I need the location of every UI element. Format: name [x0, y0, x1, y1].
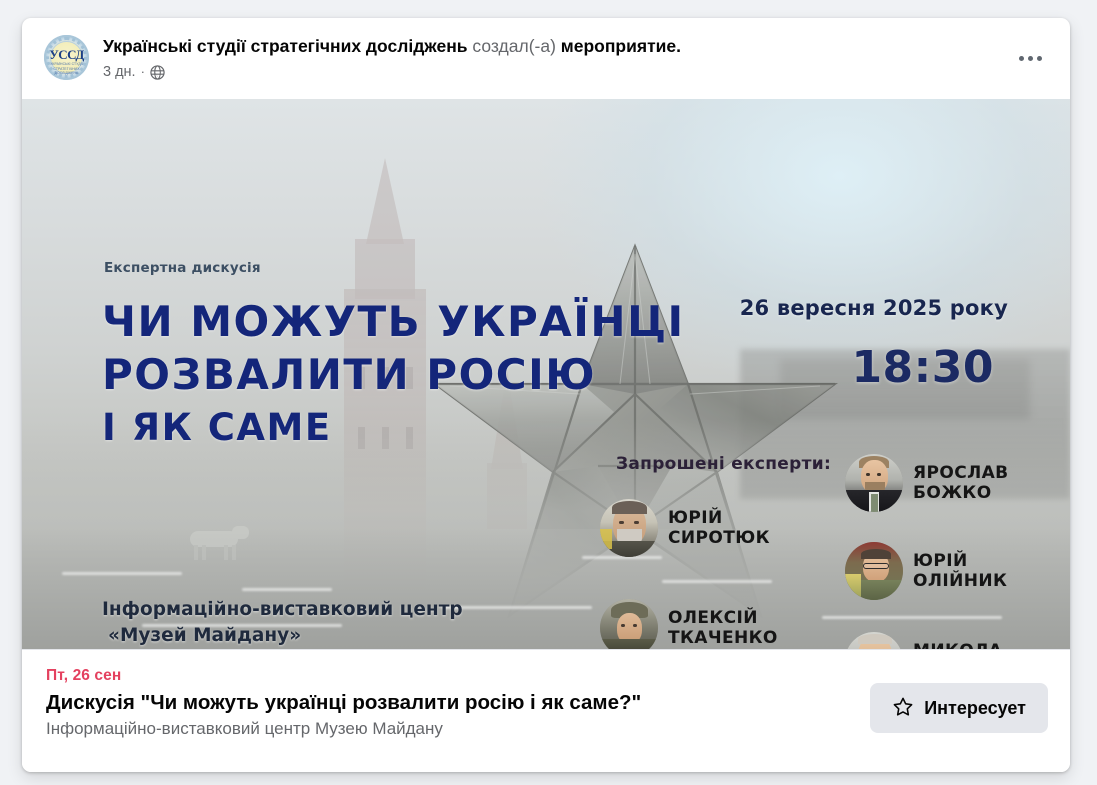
expert-photo-yuriy-oliynyk — [845, 542, 903, 600]
poster-kicker: Експертна дискусія — [104, 260, 261, 276]
post-meta-line: 3 дн. · — [103, 63, 1052, 81]
post-header-text: Українські студії стратегічних досліджен… — [103, 32, 1052, 81]
poster-venue: Інформаційно-виставковий центр «Музей Ма… — [102, 597, 473, 649]
expert-name: Микола Волгов — [913, 641, 1002, 649]
expert-entry: Ярослав Божко — [845, 454, 1009, 512]
stray-dog — [182, 523, 250, 561]
dog-leg — [194, 545, 198, 560]
interested-button[interactable]: Интересует — [870, 683, 1048, 733]
expert-last-name: Олійник — [913, 571, 1007, 591]
expert-last-name: Сиротюк — [668, 528, 770, 548]
dog-leg — [202, 545, 206, 560]
expert-photo-oleksiy-tkachenko — [600, 599, 658, 649]
post-action-text: создал(-а) — [472, 36, 556, 56]
expert-first-name: Юрій — [913, 551, 1007, 571]
poster-headline-line3: і як саме — [102, 401, 662, 454]
avatar-monogram: УССД — [44, 48, 89, 61]
star-outline-icon — [892, 696, 914, 721]
facebook-post-card: УССД УКРАЇНСЬКІ СТУДІЇ СТРАТЕГІЧНИХ ДОСЛ… — [22, 18, 1070, 772]
poster-venue-line2: «Музей Майдану» — [102, 623, 473, 649]
expert-entry: Микола Волгов — [845, 632, 1002, 649]
expert-name: Юрій Олійник — [913, 551, 1007, 591]
post-header: УССД УКРАЇНСЬКІ СТУДІЇ СТРАТЕГІЧНИХ ДОСЛ… — [22, 18, 1070, 99]
dog-leg — [232, 545, 236, 560]
expert-first-name: Олексій — [668, 608, 778, 628]
dog-leg — [224, 545, 228, 560]
ice-streak — [822, 616, 1002, 619]
ice-streak — [242, 588, 332, 591]
event-info-footer: Пт, 26 сен Дискусія "Чи можуть українці … — [22, 649, 1070, 772]
avatar-ring-text: УКРАЇНСЬКІ СТУДІЇ СТРАТЕГІЧНИХ ДОСЛІДЖЕН… — [44, 62, 89, 76]
poster-headline-line1: Чи можуть українці — [102, 295, 662, 348]
poster-venue-line1: Інформаційно-виставковий центр — [102, 597, 473, 623]
avatar[interactable]: УССД УКРАЇНСЬКІ СТУДІЇ СТРАТЕГІЧНИХ ДОСЛ… — [44, 35, 89, 80]
poster-event-time: 18:30 — [851, 342, 994, 393]
expert-photo-mykola-volhov — [845, 632, 903, 649]
ellipsis-dot — [1037, 56, 1042, 61]
tower-midsection — [355, 239, 415, 299]
expert-name: Ярослав Божко — [913, 463, 1009, 503]
expert-photo-yuriy-syrotiuk — [600, 499, 658, 557]
tower-spire — [366, 158, 404, 244]
ice-streak — [62, 572, 182, 575]
ellipsis-dot — [1019, 56, 1024, 61]
expert-photo-yaroslav-bozhko — [845, 454, 903, 512]
post-action-object: мероприятие. — [561, 36, 681, 56]
ellipsis-horizontal-icon[interactable] — [1012, 40, 1048, 76]
post-title-line: Українські студії стратегічних досліджен… — [103, 35, 1052, 57]
meta-separator: · — [141, 63, 145, 81]
ellipsis-dot — [1028, 56, 1033, 61]
poster-headline-line2: розвалити росію — [102, 348, 662, 401]
ice-streak — [662, 580, 772, 583]
expert-first-name: Юрій — [668, 508, 770, 528]
post-timestamp[interactable]: 3 дн. — [103, 63, 136, 81]
expert-name: Олексій Ткаченко — [668, 608, 778, 648]
expert-first-name: Микола — [913, 641, 1002, 649]
poster-headline: Чи можуть українці розвалити росію і як … — [102, 295, 662, 454]
globe-public-icon[interactable] — [150, 65, 165, 80]
poster-experts-label: Запрошені експерти: — [616, 454, 831, 474]
expert-name: Юрій Сиротюк — [668, 508, 770, 548]
expert-entry: Юрій Сиротюк — [600, 499, 770, 557]
page-name-link[interactable]: Українські студії стратегічних досліджен… — [103, 36, 468, 56]
dog-head — [232, 526, 249, 539]
interested-button-label: Интересует — [924, 698, 1026, 719]
expert-last-name: Ткаченко — [668, 628, 778, 648]
event-poster-image[interactable]: Експертна дискусія Чи можуть українці ро… — [22, 99, 1070, 649]
expert-first-name: Ярослав — [913, 463, 1009, 483]
expert-entry: Юрій Олійник — [845, 542, 1007, 600]
poster-event-date: 26 вересня 2025 року — [740, 296, 1008, 320]
expert-entry: Олексій Ткаченко — [600, 599, 778, 649]
expert-last-name: Божко — [913, 483, 1009, 503]
